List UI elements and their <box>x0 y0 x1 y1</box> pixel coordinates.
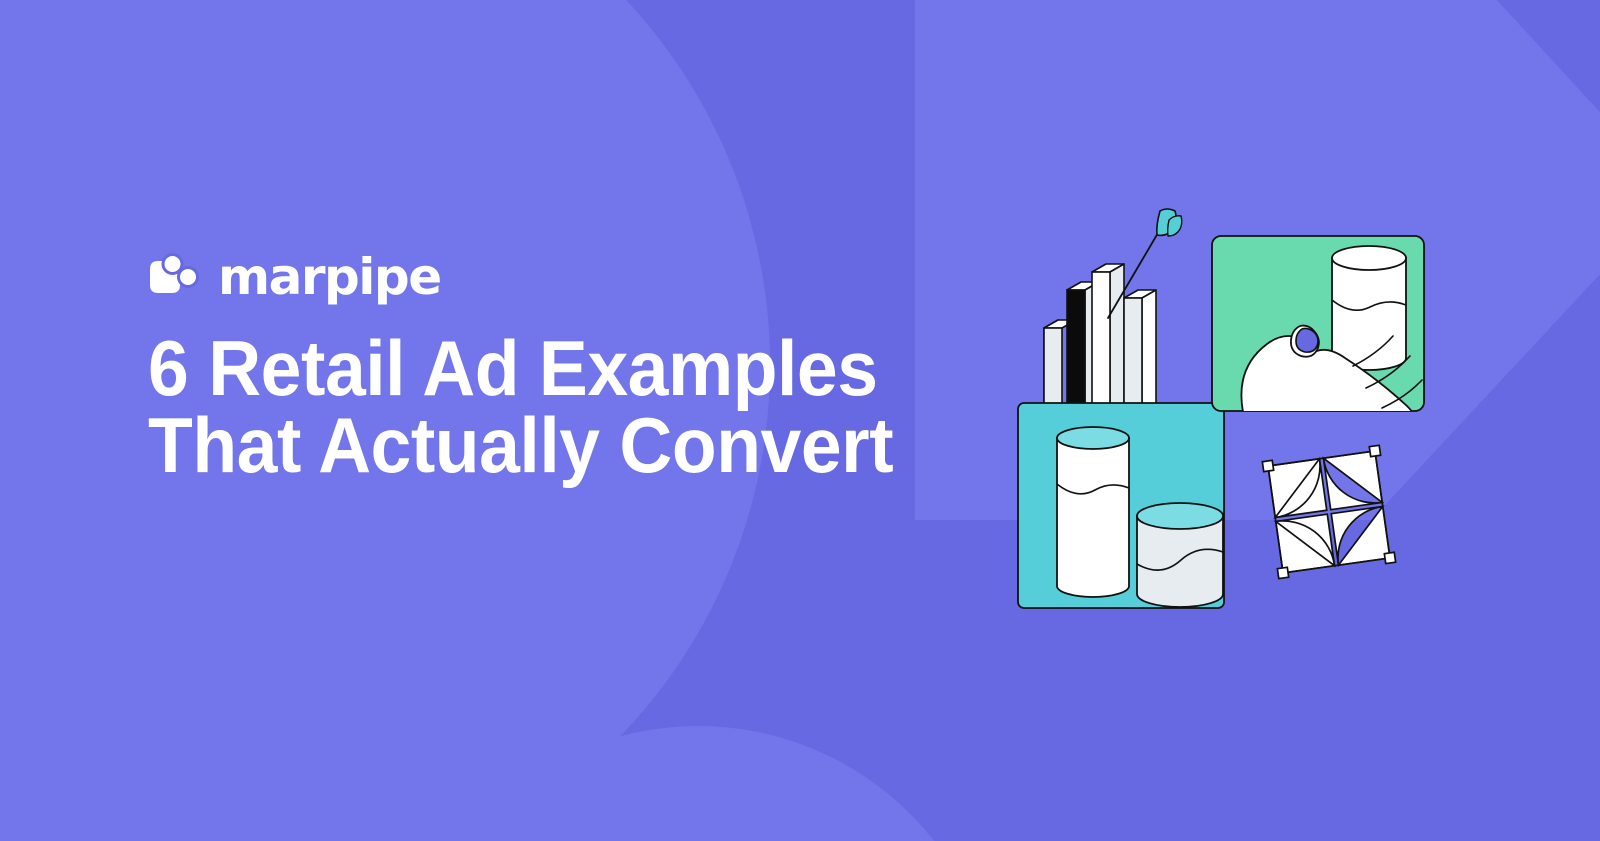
green-panel-with-hand-holding-cylinder <box>1212 236 1424 472</box>
crop-handle-tr[interactable] <box>1369 445 1380 456</box>
brand-wordmark: marpipe <box>218 252 441 302</box>
marpipe-camera-people-icon <box>148 253 204 301</box>
brand-logo[interactable]: marpipe <box>148 252 948 302</box>
rotated-square-crop-handles <box>1262 445 1395 578</box>
crop-handle-tl[interactable] <box>1262 460 1273 471</box>
crop-handle-bl[interactable] <box>1277 567 1288 578</box>
headline-line-1: 6 Retail Ad Examples <box>148 330 900 407</box>
bar-4 <box>1124 290 1156 409</box>
crop-handle-br[interactable] <box>1384 552 1395 563</box>
cylinder-tall <box>1057 427 1129 597</box>
teal-panel-with-cylinders <box>1018 403 1224 608</box>
ring-shape-bottom-outer <box>398 726 998 841</box>
headline-line-2: That Actually Convert <box>148 407 900 484</box>
hero-banner: marpipe 6 Retail Ad Examples That Actual… <box>0 0 1600 841</box>
bar-chart-group <box>1044 264 1156 409</box>
hero-content: marpipe 6 Retail Ad Examples That Actual… <box>148 252 948 484</box>
cylinder-short <box>1137 503 1223 607</box>
page-title: 6 Retail Ad Examples That Actually Conve… <box>148 330 900 484</box>
bar-3 <box>1092 264 1124 409</box>
retail-product-testing-illustration <box>1000 198 1460 628</box>
